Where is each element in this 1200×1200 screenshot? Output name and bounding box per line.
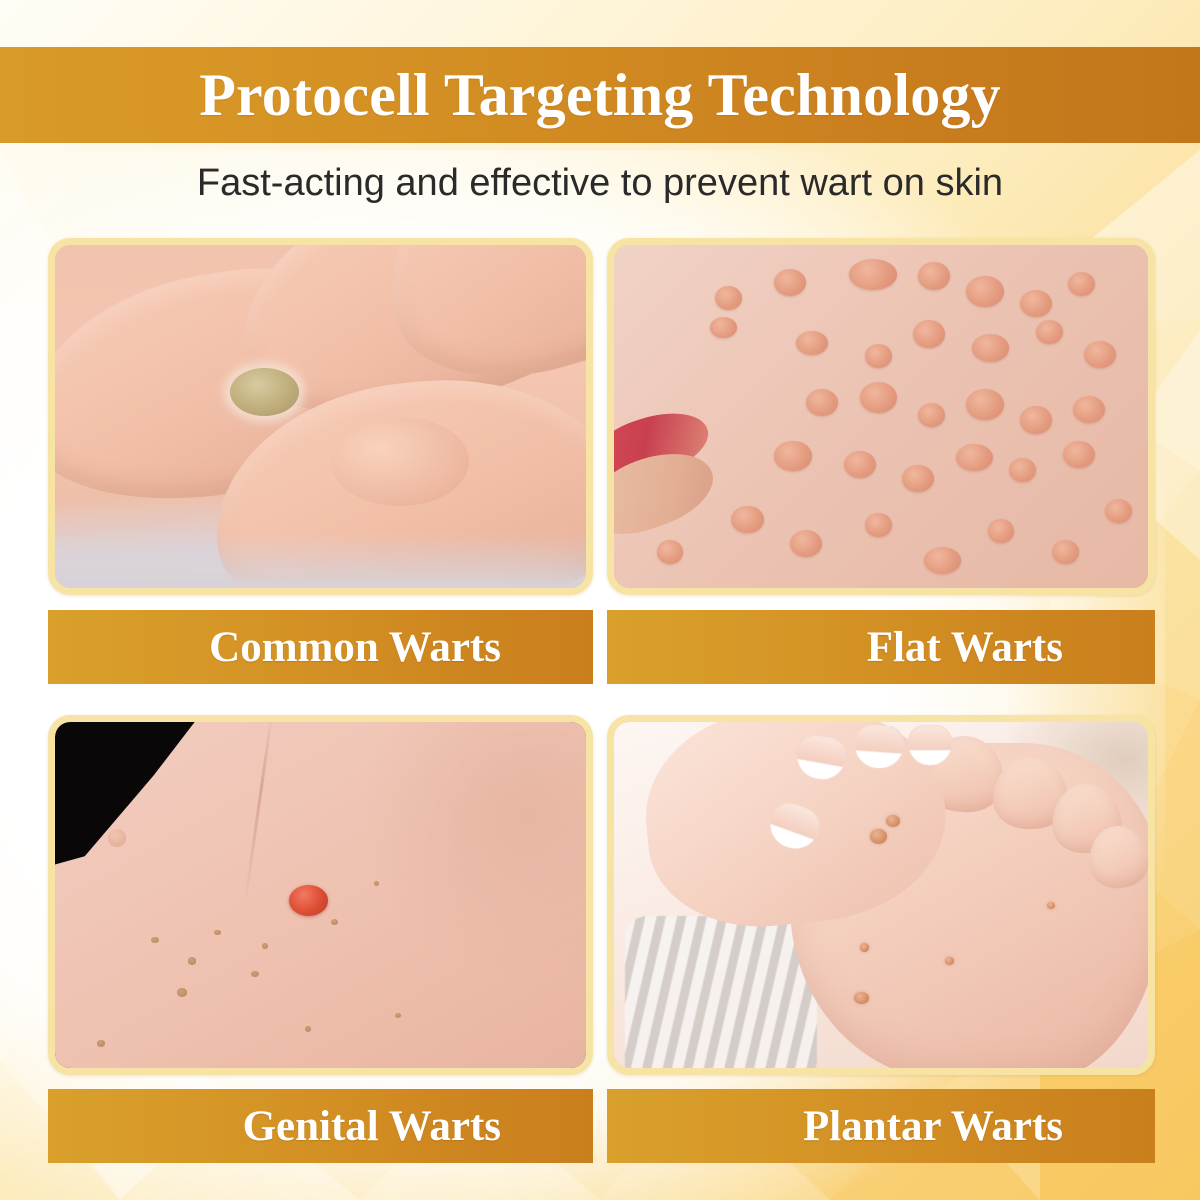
card-label-genital-warts: Genital Warts — [48, 1089, 593, 1163]
card-label-text: Genital Warts — [243, 1105, 501, 1148]
wart-lesion-marker — [289, 885, 329, 916]
card-label-plantar-warts: Plantar Warts — [607, 1089, 1155, 1163]
flat-warts-photo-frame — [607, 238, 1155, 595]
card-label-common-warts: Common Warts — [48, 610, 593, 684]
wart-types-grid: Common Warts — [0, 0, 1200, 1200]
card-label-text: Plantar Warts — [803, 1105, 1063, 1148]
common-warts-photo-frame — [48, 238, 593, 595]
genital-warts-photo — [55, 722, 586, 1068]
card-label-flat-warts: Flat Warts — [607, 610, 1155, 684]
common-warts-photo — [55, 245, 586, 588]
poster-root: Protocell Targeting Technology Fast-acti… — [0, 0, 1200, 1200]
genital-warts-photo-frame — [48, 715, 593, 1075]
card-label-text: Common Warts — [209, 626, 501, 669]
flat-warts-photo — [614, 245, 1148, 588]
plantar-warts-photo — [614, 722, 1148, 1068]
plantar-warts-photo-frame — [607, 715, 1155, 1075]
card-label-text: Flat Warts — [867, 626, 1063, 669]
